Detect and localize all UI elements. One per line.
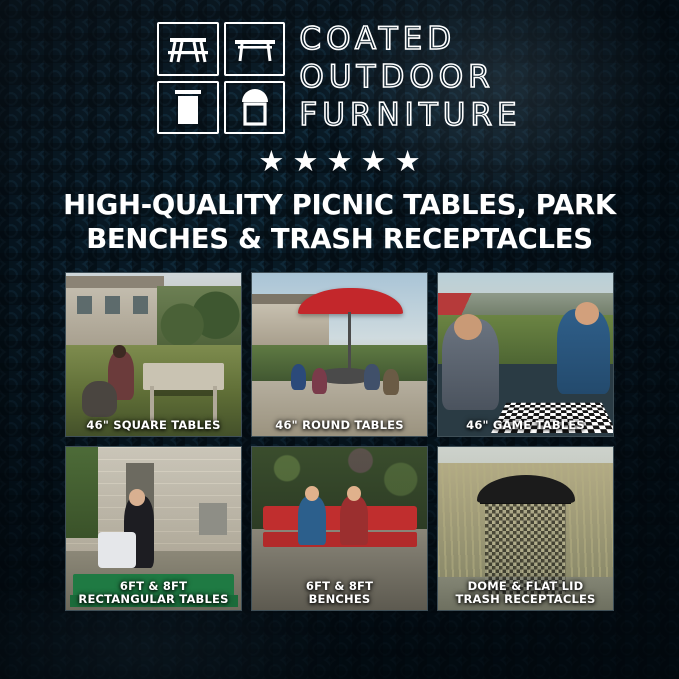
product-tile-round-tables[interactable]: 46" ROUND TABLES	[251, 272, 428, 437]
product-tile-rectangular-tables[interactable]: 6FT & 8FT RECTANGULAR TABLES	[65, 446, 242, 611]
product-tile-benches[interactable]: 6FT & 8FT BENCHES	[251, 446, 428, 611]
product-caption-square-tables: 46" SQUARE TABLES	[66, 419, 241, 432]
product-caption-game-tables: 46" GAME TABLES	[438, 419, 613, 432]
photo-square-tables	[66, 273, 241, 436]
logo-cell-dome-lid-receptacle-icon	[224, 81, 286, 135]
logo-cell-flat-lid-receptacle-icon	[157, 81, 219, 135]
brand-word-2: OUTDOOR	[299, 60, 521, 96]
brand-wordmark: COATED OUTDOOR FURNITURE	[299, 22, 521, 134]
product-caption-trash-receptacles: DOME & FLAT LID TRASH RECEPTACLES	[438, 580, 613, 606]
headline-line-2: BENCHES & TRASH RECEPTACLES	[20, 223, 660, 257]
ad-content-overlay: COATED OUTDOOR FURNITURE ★ ★ ★ ★ ★ HIGH-…	[0, 0, 679, 679]
headline-line-1: HIGH-QUALITY PICNIC TABLES, PARK	[20, 189, 660, 223]
product-tile-game-tables[interactable]: 46" GAME TABLES	[437, 272, 614, 437]
product-grid: 46" SQUARE TABLES 46	[65, 272, 614, 611]
product-caption-benches: 6FT & 8FT BENCHES	[252, 580, 427, 606]
headline: HIGH-QUALITY PICNIC TABLES, PARK BENCHES…	[20, 189, 660, 256]
product-tile-trash-receptacles[interactable]: DOME & FLAT LID TRASH RECEPTACLES	[437, 446, 614, 611]
star-rating: ★ ★ ★ ★ ★	[258, 148, 420, 177]
product-tile-square-tables[interactable]: 46" SQUARE TABLES	[65, 272, 242, 437]
logo-cell-bench-icon	[224, 22, 286, 76]
brand-word-1: COATED	[299, 22, 521, 58]
product-caption-rectangular-tables: 6FT & 8FT RECTANGULAR TABLES	[66, 580, 241, 606]
brand-word-3: FURNITURE	[299, 98, 521, 134]
photo-game-tables	[438, 273, 613, 436]
picnic-table-logo-icon	[157, 22, 285, 134]
brand-logo: COATED OUTDOOR FURNITURE	[157, 22, 521, 134]
advertisement-image: COATED OUTDOOR FURNITURE ★ ★ ★ ★ ★ HIGH-…	[0, 0, 679, 679]
logo-cell-square-table-icon	[157, 22, 219, 76]
product-caption-round-tables: 46" ROUND TABLES	[252, 419, 427, 432]
photo-round-tables	[252, 273, 427, 436]
